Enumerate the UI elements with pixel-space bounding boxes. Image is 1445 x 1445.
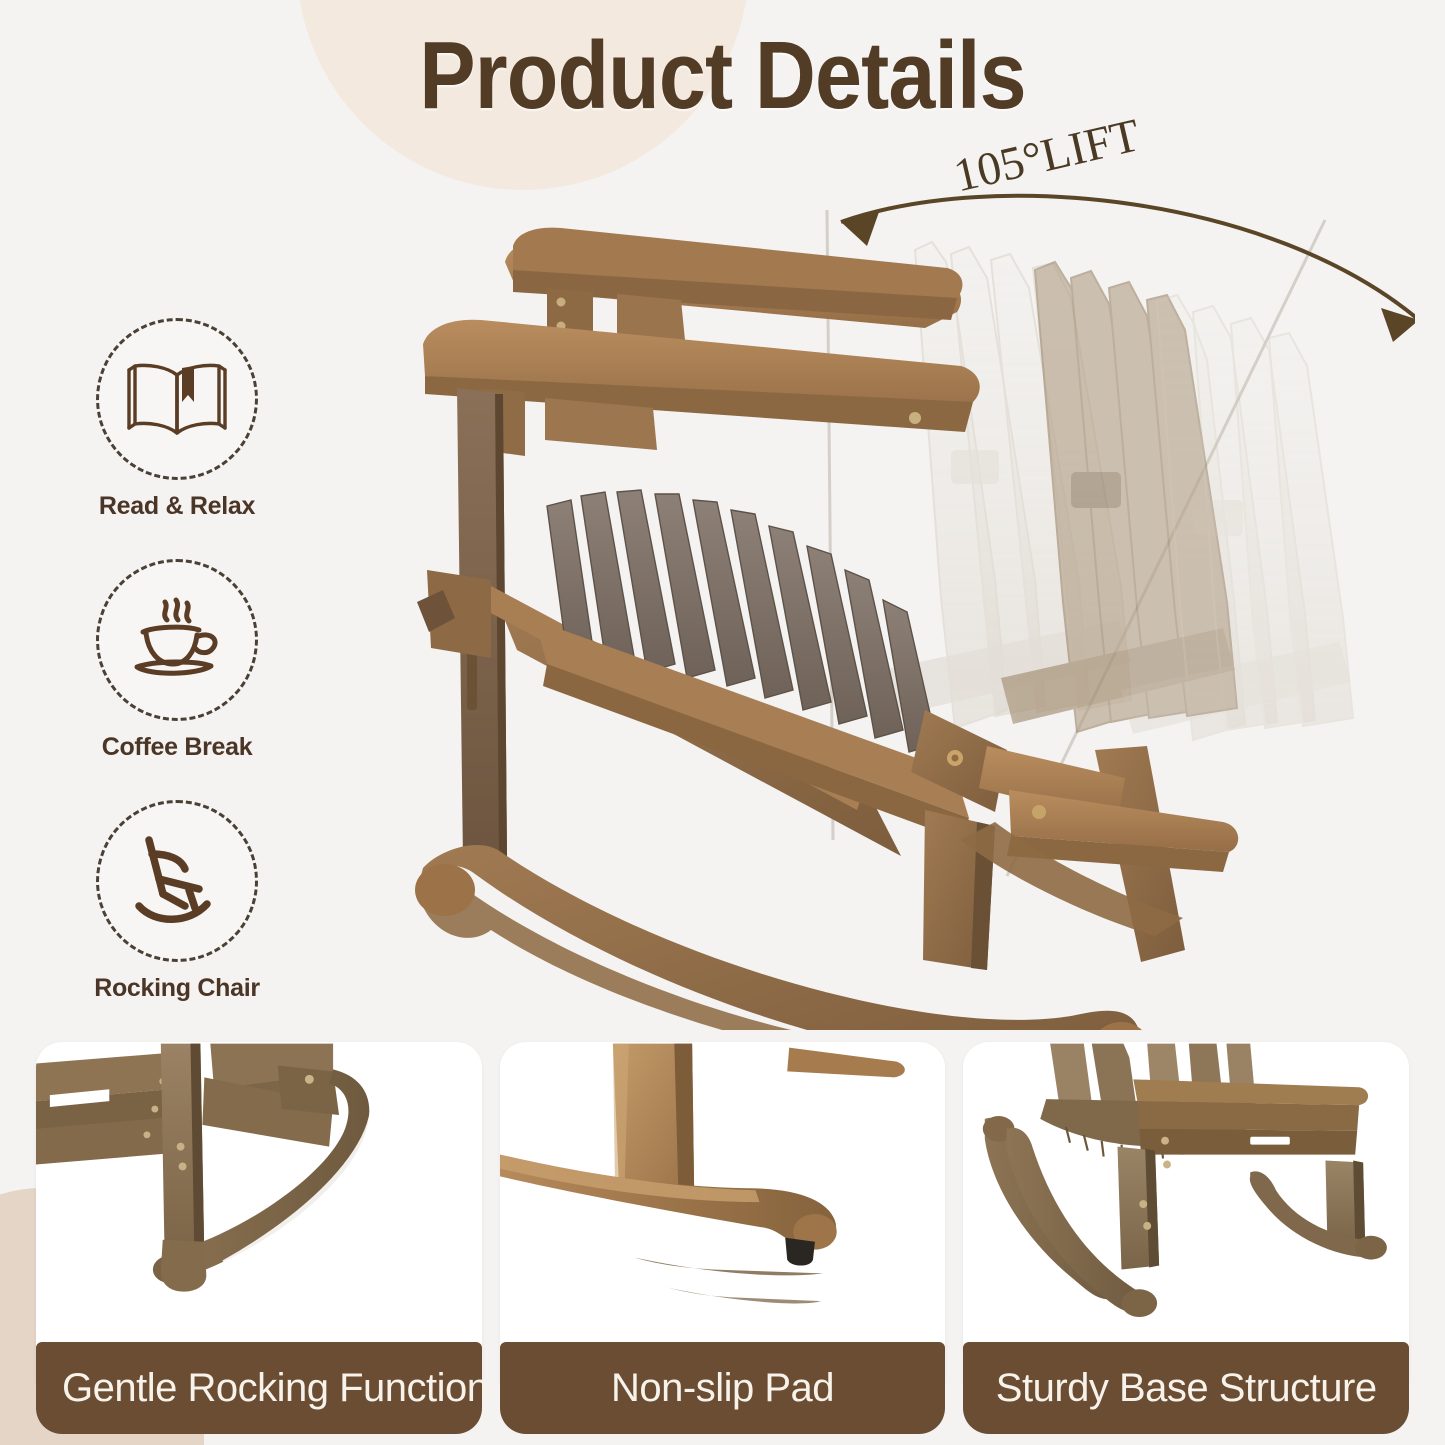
feature-icon-frame xyxy=(96,318,258,480)
panel-image-rocker-runner xyxy=(36,1042,482,1388)
panel-caption: Sturdy Base Structure xyxy=(963,1342,1409,1434)
feature-item-read-relax: Read & Relax xyxy=(62,318,292,521)
panel-caption: Non-slip Pad xyxy=(500,1342,946,1434)
feature-label: Coffee Break xyxy=(62,733,292,762)
feature-icon-frame xyxy=(96,559,258,721)
product-details-page: Product Details xyxy=(0,0,1445,1445)
panel-image-non-slip-pad xyxy=(500,1042,946,1388)
detail-panel-sturdy-base[interactable]: Sturdy Base Structure xyxy=(963,1042,1409,1434)
page-title: Product Details xyxy=(87,28,1359,124)
feature-item-rocking-chair: Rocking Chair xyxy=(62,800,292,1003)
panel-image-base-structure xyxy=(963,1042,1409,1388)
arc-arrow-left xyxy=(841,212,879,246)
coffee-cup-icon xyxy=(123,594,231,686)
feature-icon-frame xyxy=(96,800,258,962)
feature-item-coffee-break: Coffee Break xyxy=(62,559,292,762)
hero-product-image xyxy=(395,150,1415,1030)
feature-list: Read & Relax xyxy=(62,318,292,1041)
panel-caption: Gentle Rocking Function xyxy=(36,1342,482,1434)
open-book-icon xyxy=(123,356,231,442)
feature-label: Rocking Chair xyxy=(62,974,292,1003)
detail-panels: Gentle Rocking Function xyxy=(36,1042,1409,1434)
detail-panel-gentle-rocking[interactable]: Gentle Rocking Function xyxy=(36,1042,482,1434)
feature-label: Read & Relax xyxy=(62,492,292,521)
rocking-chair-icon xyxy=(123,832,231,930)
detail-panel-non-slip-pad[interactable]: Non-slip Pad xyxy=(500,1042,946,1434)
